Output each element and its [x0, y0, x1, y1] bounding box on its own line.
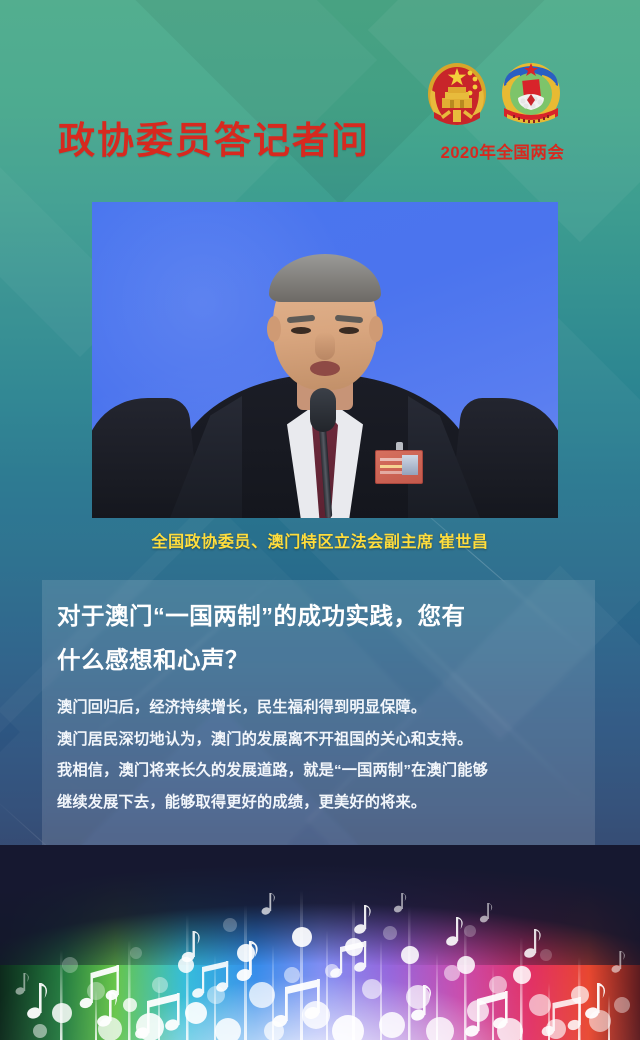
event-year-label: 2020年全国两会 — [415, 139, 590, 163]
music-notes-decoration — [0, 845, 640, 1040]
photo-caption: 全国政协委员、澳门特区立法会副主席 崔世昌 — [0, 528, 640, 552]
poster-header: 政协委员答记者问 — [0, 0, 640, 200]
question-text: 对于澳门“一国两制”的成功实践，您有 什么感想和心声？ — [57, 594, 577, 682]
china-national-emblem-icon — [424, 60, 490, 132]
question-line-1: 对于澳门“一国两制”的成功实践，您有 — [57, 594, 577, 638]
music-notes-rainbow-banner — [0, 845, 640, 1040]
speaker-photo — [92, 202, 558, 518]
answer-line-2: 澳门居民深切地认为，澳门的发展离不开祖国的关心和支持。 — [57, 724, 592, 756]
delegate-id-badge — [375, 450, 423, 484]
question-line-2: 什么感想和心声？ — [57, 638, 577, 682]
answer-line-4: 继续发展下去，能够取得更好的成绩，更美好的将来。 — [57, 787, 592, 819]
answer-text: 澳门回归后，经济持续增长，民生福利得到明显保障。 澳门居民深切地认为，澳门的发展… — [57, 692, 592, 818]
cppcc-emblem-icon — [498, 60, 564, 132]
answer-line-1: 澳门回归后，经济持续增长，民生福利得到明显保障。 — [57, 692, 592, 724]
answer-line-3: 我相信，澳门将来长久的发展道路，就是“一国两制”在澳门能够 — [57, 755, 592, 787]
poster-root: 政协委员答记者问 — [0, 0, 640, 1040]
page-title: 政协委员答记者问 — [58, 122, 370, 159]
quote-card: 对于澳门“一国两制”的成功实践，您有 什么感想和心声？ 澳门回归后，经济持续增长… — [42, 580, 595, 845]
